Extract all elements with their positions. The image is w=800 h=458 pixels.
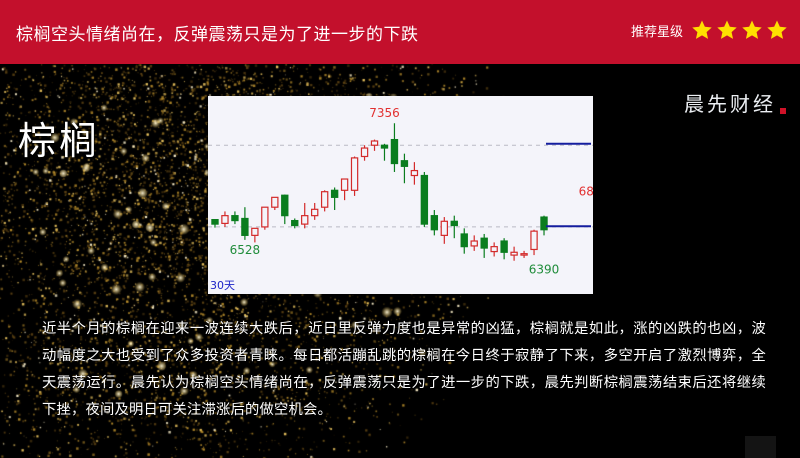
corner-patch bbox=[745, 436, 776, 458]
candle-body bbox=[441, 221, 447, 235]
candle-body bbox=[351, 158, 357, 190]
candle-body bbox=[421, 176, 427, 225]
chart-price-annotation: 6528 bbox=[230, 243, 261, 257]
candle-body bbox=[342, 179, 348, 190]
publisher-logo-text: 晨先财经 bbox=[684, 88, 776, 117]
candle-body bbox=[541, 217, 547, 230]
candle-body bbox=[242, 218, 248, 235]
candle-body bbox=[531, 231, 537, 249]
candle-body bbox=[411, 171, 417, 176]
candle-body bbox=[371, 141, 377, 145]
candle-body bbox=[332, 190, 338, 197]
candle-body bbox=[272, 197, 278, 207]
candle-body bbox=[391, 140, 397, 164]
star-icon bbox=[691, 19, 713, 41]
candle-body bbox=[521, 254, 527, 255]
candle-body bbox=[511, 252, 517, 255]
candle-body bbox=[401, 161, 407, 167]
candle-body bbox=[262, 207, 268, 227]
star-icon bbox=[766, 19, 788, 41]
article-body: 近半个月的棕榈在迎来一波连续大跌后，近日里反弹力度也是异常的凶猛，棕榈就是如此，… bbox=[42, 316, 766, 424]
candle-body bbox=[282, 195, 288, 215]
candle-body bbox=[381, 145, 387, 148]
publisher-logo: 晨先财经 bbox=[684, 88, 786, 117]
candle-body bbox=[361, 148, 367, 156]
candle-body bbox=[312, 209, 318, 215]
candle-body bbox=[451, 221, 457, 225]
candlestick-chart[interactable]: 7356652863906802 30天 bbox=[208, 96, 593, 294]
rating-label: 推荐星级 bbox=[631, 21, 683, 40]
commodity-name-watermark: 棕榈 bbox=[18, 110, 100, 165]
chart-price-annotation: 6802 bbox=[579, 184, 593, 198]
candle-body bbox=[491, 247, 497, 252]
candle-body bbox=[481, 238, 487, 248]
candle-body bbox=[222, 216, 228, 224]
screenshot-root: 棕榈空头情绪尚在，反弹震荡只是为了进一步的下跌 推荐星级 棕榈 晨先财经 735… bbox=[0, 0, 800, 458]
page-title: 棕榈空头情绪尚在，反弹震荡只是为了进一步的下跌 bbox=[16, 20, 419, 45]
star-icon bbox=[741, 19, 763, 41]
candle-body bbox=[252, 228, 258, 235]
candle-body bbox=[471, 241, 477, 246]
candle-body bbox=[322, 192, 328, 207]
rating-group: 推荐星级 bbox=[631, 19, 788, 41]
candle-body bbox=[461, 234, 467, 247]
chart-price-annotation: 6390 bbox=[529, 262, 560, 276]
publisher-logo-dot bbox=[780, 108, 786, 114]
candle-body bbox=[302, 216, 308, 224]
star-icon bbox=[716, 19, 738, 41]
header-banner: 棕榈空头情绪尚在，反弹震荡只是为了进一步的下跌 推荐星级 bbox=[0, 0, 800, 64]
candle-body bbox=[232, 216, 238, 221]
candle-body bbox=[292, 221, 298, 226]
candle-body bbox=[431, 216, 437, 230]
candle-body bbox=[501, 241, 507, 252]
chart-price-annotation: 7356 bbox=[369, 106, 400, 120]
chart-period-label: 30天 bbox=[210, 277, 235, 293]
chart-canvas: 7356652863906802 bbox=[208, 96, 593, 294]
star-rating bbox=[691, 19, 788, 41]
candle-body bbox=[212, 220, 218, 225]
